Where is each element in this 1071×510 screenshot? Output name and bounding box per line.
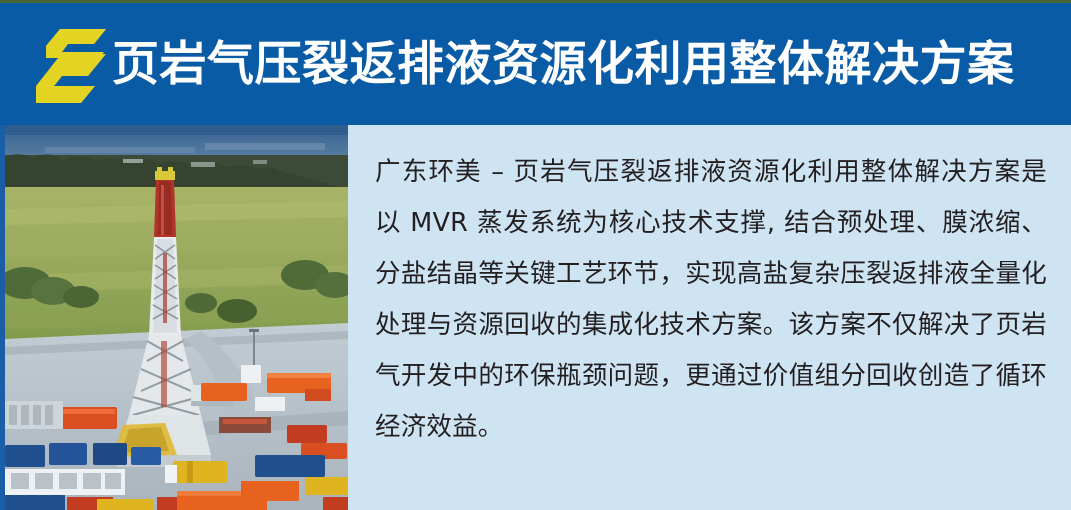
drilling-rig-illustration [5, 125, 348, 510]
numeral-two-glyph [32, 25, 122, 105]
drilling-rig-photo [5, 125, 348, 510]
solution-section-card: 页岩气压裂返排液资源化利用整体解决方案 [0, 0, 1071, 510]
solution-description-text: 广东环美 – 页岩气压裂返排液资源化利用整体解决方案是以 MVR 蒸发系统为核心… [375, 147, 1047, 453]
solution-description-panel: 广东环美 – 页岩气压裂返排液资源化利用整体解决方案是以 MVR 蒸发系统为核心… [348, 125, 1071, 510]
section-header-bar: 页岩气压裂返排液资源化利用整体解决方案 [0, 3, 1071, 125]
section-number-badge [32, 25, 122, 105]
page-title: 页岩气压裂返排液资源化利用整体解决方案 [112, 30, 1015, 100]
